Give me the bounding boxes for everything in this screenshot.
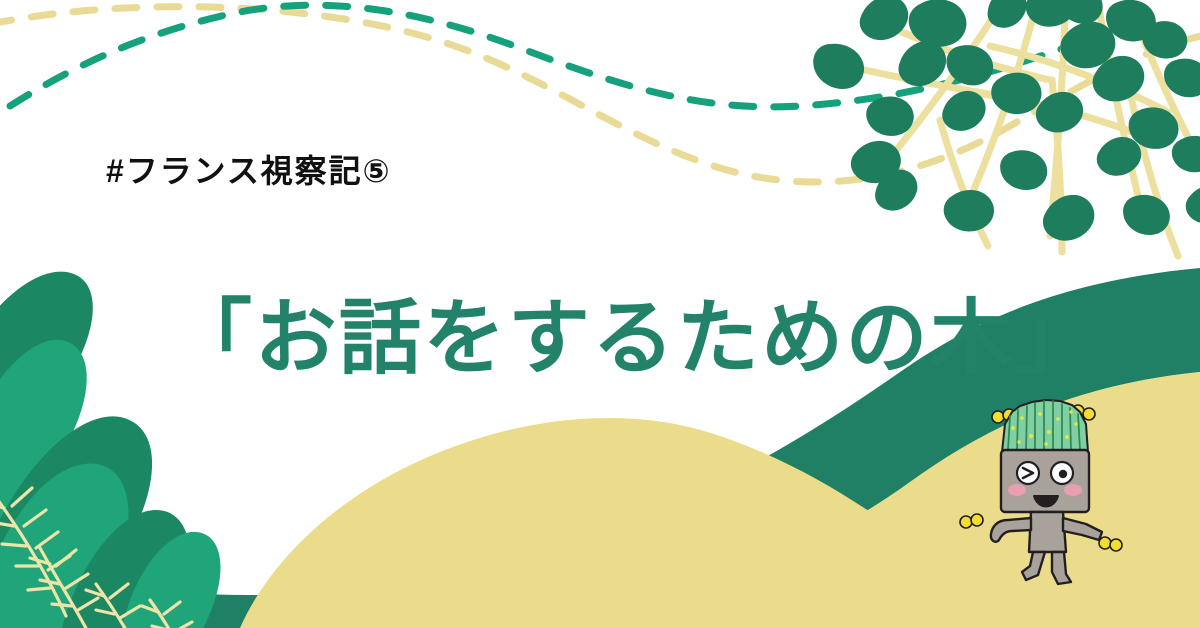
hashtag-eyebrow: #フランス視察記⑤: [106, 152, 392, 190]
eye-left-wink: [1017, 462, 1039, 484]
mascot-torso: [1029, 512, 1066, 552]
title-card: #フランス視察記⑤ 「お話をするための木」: [0, 0, 1200, 628]
page-title: 「お話をするための木」: [170, 291, 1099, 388]
blush-left: [1008, 484, 1026, 496]
blush-right: [1064, 484, 1082, 496]
